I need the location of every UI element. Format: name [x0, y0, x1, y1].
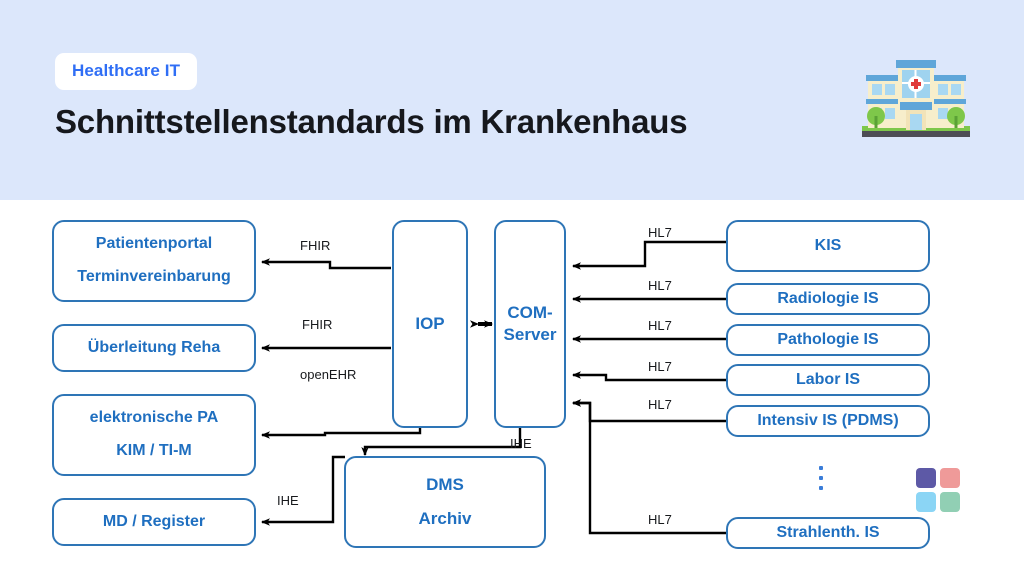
node-com-server-line-2: Server [504, 325, 557, 345]
node-intensiv-is[interactable]: Intensiv IS (PDMS) [726, 405, 930, 437]
node-strahlenth-is[interactable]: Strahlenth. IS [726, 517, 930, 549]
node-labor-is[interactable]: Labor IS [726, 364, 930, 396]
node-radiologie-is[interactable]: Radiologie IS [726, 283, 930, 315]
wire-label-hl7-strahl: HL7 [648, 512, 672, 527]
node-kis[interactable]: KIS [726, 220, 930, 272]
logo-square-top-right [940, 468, 960, 488]
node-intensiv-is-line-1: Intensiv IS (PDMS) [757, 412, 898, 431]
wire-label-hl7-radio: HL7 [648, 278, 672, 293]
node-md-register[interactable]: MD / Register [52, 498, 256, 546]
ellipsis-dot-2 [819, 476, 823, 480]
wire-label-ihe-com: IHE [510, 436, 532, 451]
category-badge: Healthcare IT [55, 53, 197, 90]
node-iop-line-1: IOP [415, 314, 444, 334]
wire-label-hl7-kis: HL7 [648, 225, 672, 240]
node-com-server-line-1: COM- [507, 303, 552, 323]
node-patientenportal[interactable]: Patientenportal Terminvereinbarung [52, 220, 256, 302]
node-dms-archiv-line-2: Archiv [419, 509, 472, 529]
node-strahlenth-is-line-1: Strahlenth. IS [776, 524, 879, 543]
node-ueberleitung-reha-line-1: Überleitung Reha [88, 339, 220, 358]
wire-label-hl7-patho: HL7 [648, 318, 672, 333]
node-pathologie-is-line-1: Pathologie IS [777, 331, 878, 350]
wire-label-ihe-dms: IHE [277, 493, 299, 508]
header-band: Healthcare IT Schnittstellenstandards im… [0, 0, 1024, 200]
wire-label-hl7-labor: HL7 [648, 359, 672, 374]
node-pathologie-is[interactable]: Pathologie IS [726, 324, 930, 356]
node-elektronische-pa[interactable]: elektronische PA KIM / TI-M [52, 394, 256, 476]
node-kis-line-1: KIS [815, 237, 842, 256]
hospital-building-icon [860, 52, 972, 142]
vertical-ellipsis-icon [819, 466, 823, 496]
page-title: Schnittstellenstandards im Krankenhaus [55, 103, 687, 141]
node-labor-is-line-1: Labor IS [796, 371, 860, 390]
wire-label-hl7-intens: HL7 [648, 397, 672, 412]
ellipsis-dot-1 [819, 466, 823, 470]
wire-label-openehr: openEHR [300, 367, 356, 382]
node-elektronische-pa-line-1: elektronische PA [90, 409, 219, 428]
node-iop[interactable]: IOP [392, 220, 468, 428]
node-ueberleitung-reha[interactable]: Überleitung Reha [52, 324, 256, 372]
logo-square-bottom-right [940, 492, 960, 512]
wire-label-fhir-1: FHIR [300, 238, 330, 253]
ellipsis-dot-3 [819, 486, 823, 490]
logo-square-top-left [916, 468, 936, 488]
node-dms-archiv-line-1: DMS [426, 475, 464, 495]
node-md-register-line-1: MD / Register [103, 513, 205, 532]
brand-logo [916, 468, 960, 512]
logo-square-bottom-left [916, 492, 936, 512]
node-radiologie-is-line-1: Radiologie IS [777, 290, 878, 309]
node-dms-archiv[interactable]: DMS Archiv [344, 456, 546, 548]
wire-label-fhir-2: FHIR [302, 317, 332, 332]
category-badge-label: Healthcare IT [72, 61, 180, 80]
node-elektronische-pa-line-2: KIM / TI-M [116, 442, 192, 461]
node-patientenportal-line-2: Terminvereinbarung [77, 268, 231, 287]
node-com-server[interactable]: COM- Server [494, 220, 566, 428]
diagram-canvas: FHIR FHIR openEHR IHE IHE HL7 HL7 HL7 HL… [0, 200, 1024, 576]
node-patientenportal-line-1: Patientenportal [96, 235, 212, 254]
